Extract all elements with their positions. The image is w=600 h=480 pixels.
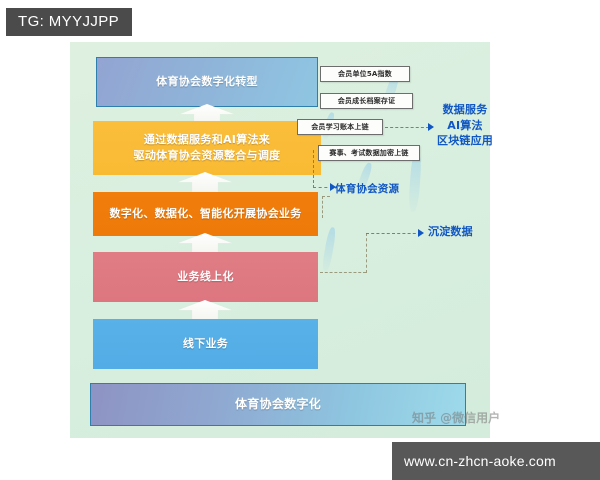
box-label: 体育协会数字化转型 (156, 74, 258, 90)
connector-dashed-to-tech-stack (385, 127, 429, 128)
connector-dashed-orange-box (322, 196, 323, 218)
box-label-line1: 通过数据服务和AI算法来 (144, 133, 270, 146)
box-business-online[interactable]: 业务线上化 (93, 252, 318, 302)
connector-dashed-sediment (366, 233, 421, 234)
capability-label: 赛事、考试数据加密上链 (329, 148, 408, 158)
connector-dashed-sediment (320, 272, 366, 273)
connector-dashed-sediment (366, 233, 367, 273)
connector-dashed-orange-box (322, 196, 330, 197)
box-label: 业务线上化 (177, 269, 234, 285)
watermark-url: www.cn-zhcn-aoke.com (392, 442, 600, 480)
capability-label: 会员成长档案存证 (338, 96, 396, 106)
decorative-streak (321, 227, 337, 273)
capability-box-learning-ledger[interactable]: 会员学习账本上链 (297, 119, 383, 135)
tech-stack-item-blockchain: 区块链应用 (437, 133, 493, 149)
capability-box-5a-index[interactable]: 会员单位5A指数 (320, 66, 410, 82)
capability-label: 会员学习账本上链 (311, 122, 369, 132)
capability-box-growth-record[interactable]: 会员成长档案存证 (320, 93, 413, 109)
box-label: 数字化、数据化、智能化开展协会业务 (109, 206, 301, 222)
box-label-line2: 驱动体育协会资源整合与调度 (134, 149, 281, 162)
screenshot-root: 体育协会数字化转型 通过数据服务和AI算法来 驱动体育协会资源整合与调度 数字化… (0, 0, 600, 480)
box-offline-business[interactable]: 线下业务 (93, 319, 318, 369)
label-sediment-data: 沉淀数据 (428, 224, 473, 240)
label-association-resources: 体育协会资源 (335, 182, 399, 197)
watermark-telegram-tag: TG: MYYJJPP (6, 8, 132, 36)
box-footer-digitalization[interactable]: 体育协会数字化 (90, 383, 466, 426)
box-data-ai-driver[interactable]: 通过数据服务和AI算法来 驱动体育协会资源整合与调度 (93, 121, 321, 175)
box-label: 体育协会数字化 (235, 396, 321, 413)
box-label: 线下业务 (183, 336, 228, 352)
label-tech-stack: 数据服务 AI算法 区块链应用 (437, 102, 493, 149)
tech-stack-item-ai-algorithm: AI算法 (437, 118, 493, 134)
capability-box-event-exam-data[interactable]: 赛事、考试数据加密上链 (318, 145, 420, 161)
watermark-zhihu: 知乎 @微信用户 (412, 409, 500, 426)
arrowhead-icon (418, 229, 424, 237)
tech-stack-item-data-service: 数据服务 (437, 102, 493, 118)
capability-label: 会员单位5A指数 (338, 69, 392, 79)
arrowhead-icon (428, 123, 434, 131)
box-digital-operations[interactable]: 数字化、数据化、智能化开展协会业务 (93, 192, 318, 236)
connector-dashed-resources (313, 150, 314, 188)
box-digital-transformation[interactable]: 体育协会数字化转型 (96, 57, 318, 107)
